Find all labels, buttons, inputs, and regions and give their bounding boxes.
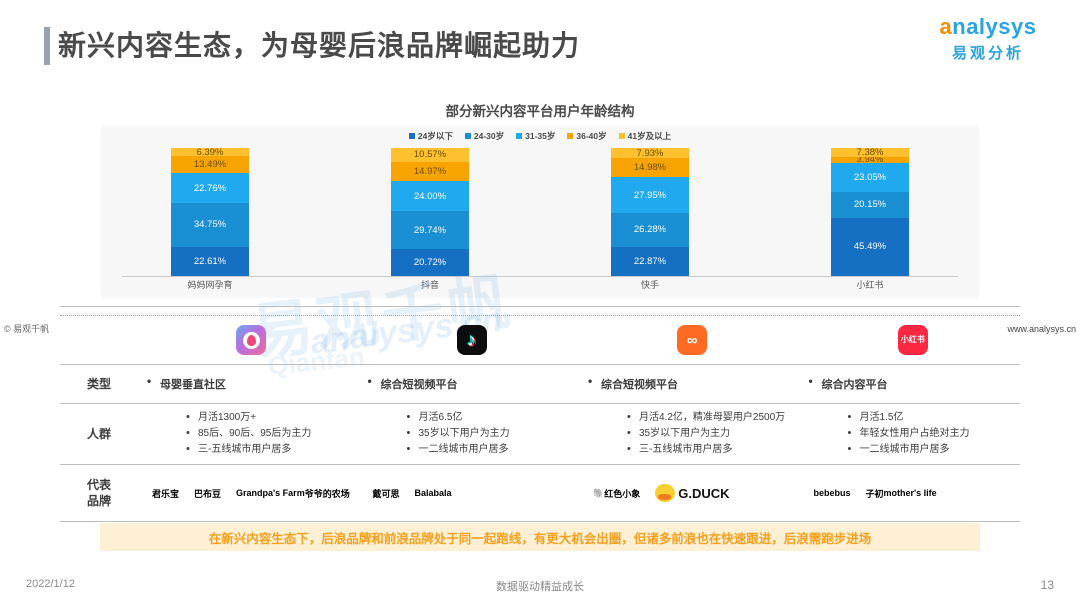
bar-segment: 10.57%	[391, 148, 469, 162]
stacked-bar[interactable]: 6.39%13.49%22.76%34.75%22.61%	[171, 148, 249, 276]
brand-logo-babudou[interactable]: 巴布豆	[190, 480, 225, 506]
brand-name-cn: 爷爷的农场	[305, 487, 350, 500]
bar-segment: 29.74%	[391, 211, 469, 249]
legend-item-3[interactable]: 36-40岁	[567, 130, 606, 142]
brand-logo-junlebao[interactable]: 君乐宝	[148, 480, 183, 506]
list-item: 85后、90后、95后为主力	[184, 426, 359, 442]
legend-item-4[interactable]: 41岁及以上	[619, 130, 671, 142]
list-item: 一二线城市用户居多	[405, 442, 580, 458]
audience-cell: 月活1.5亿年轻女性用户占绝对主力一二线城市用户居多	[800, 400, 1021, 468]
logo-chinese-name: 易观分析	[918, 42, 1058, 63]
legend-label: 31-35岁	[525, 130, 555, 142]
brand-name: G.DUCK	[678, 486, 729, 501]
bar-segment: 20.15%	[831, 192, 909, 218]
app-icon-glyph: ∞	[687, 333, 698, 348]
list-item: 月活4.2亿，精准母婴用户2500万	[625, 410, 800, 426]
bar-segment: 27.95%	[611, 177, 689, 213]
type-text: 综合短视频平台	[585, 376, 800, 392]
bar-segment: 7.93%	[611, 148, 689, 158]
list-item: 三-五线城市用户居多	[625, 442, 800, 458]
app-logo-cell: 小红书	[800, 325, 1021, 355]
list-item: 35岁以下用户为主力	[625, 426, 800, 442]
axis-label-3: 小红书	[760, 278, 980, 291]
type-text: 综合内容平台	[806, 376, 1021, 392]
analysys-logo: analysys 易观分析	[918, 16, 1058, 63]
divider-after-brands	[60, 521, 1020, 522]
bar-segment: 6.39%	[171, 148, 249, 156]
logo-word-rest: nalysys	[952, 14, 1036, 39]
brand-logo-grandpas-farm[interactable]: Grandpa's Farm爷爷的农场	[232, 480, 354, 506]
brand-logo-daikesi[interactable]: 戴可思	[369, 480, 404, 506]
duck-icon	[655, 484, 675, 502]
chart-plot-area: 6.39%13.49%22.76%34.75%22.61%10.57%14.97…	[100, 148, 980, 276]
type-cell: 综合短视频平台	[579, 376, 800, 392]
bar-segment: 13.49%	[171, 156, 249, 173]
axis-label-2: 快手	[540, 278, 760, 291]
logo-letter-a: a	[940, 14, 953, 39]
bar-group-0: 6.39%13.49%22.76%34.75%22.61%	[100, 148, 320, 276]
app-icon-glyph: 小红书	[901, 336, 925, 344]
footer-slogan: 数据驱动精益成长	[0, 578, 1080, 594]
logo-wordmark: analysys	[918, 16, 1058, 38]
bar-segment: 34.75%	[171, 203, 249, 247]
legend-item-1[interactable]: 24-30岁	[465, 130, 504, 142]
list-item: 年轻女性用户占绝对主力	[846, 426, 1021, 442]
type-cell: 母婴垂直社区	[138, 376, 359, 392]
bar-group-1: 10.57%14.97%24.00%29.74%20.72%	[320, 148, 540, 276]
audience-list: 月活1300万+85后、90后、95后为主力三-五线城市用户居多	[144, 410, 359, 458]
brand-name-en: Grandpa's Farm	[236, 488, 305, 498]
legend-swatch-icon	[516, 133, 522, 139]
douyin-app-icon[interactable]: ♪	[457, 325, 487, 355]
type-text: 综合短视频平台	[365, 376, 580, 392]
legend-item-2[interactable]: 31-35岁	[516, 130, 555, 142]
bar-segment: 7.38%	[831, 148, 909, 157]
audience-cell: 月活6.5亿35岁以下用户为主力一二线城市用户居多	[359, 400, 580, 468]
website-text: www.analysys.cn	[1007, 324, 1076, 334]
table-row-audience: 人群 月活1300万+85后、90后、95后为主力三-五线城市用户居多月活6.5…	[60, 404, 1020, 464]
chart-card: 24岁以下24-30岁31-35岁36-40岁41岁及以上 6.39%13.49…	[100, 126, 980, 298]
bar-segment: 45.49%	[831, 218, 909, 276]
brand-cell: 戴可思Balabala	[359, 480, 580, 506]
brand-name: 君乐宝	[152, 487, 179, 500]
legend-label: 36-40岁	[576, 130, 606, 142]
page-footer: 2022/1/12 数据驱动精益成长 13	[0, 572, 1080, 608]
app-icon-glyph	[243, 332, 260, 349]
brand-name-cn: 子初	[866, 487, 884, 500]
row-label-audience: 人群	[60, 426, 138, 442]
type-cell: 综合内容平台	[800, 376, 1021, 392]
brand-logo-zichu[interactable]: 子初mother's life	[862, 480, 941, 506]
table-row-app-logos: ♪∞小红书	[60, 316, 1020, 364]
chart-category-labels: 妈妈网孕育抖音快手小红书	[100, 278, 980, 291]
bar-segment: 22.87%	[611, 247, 689, 276]
type-text: 母婴垂直社区	[144, 376, 359, 392]
axis-label-1: 抖音	[320, 278, 540, 291]
xiaohongshu-app-icon[interactable]: 小红书	[898, 325, 928, 355]
app-icon-glyph: ♪	[467, 331, 476, 349]
conclusion-text: 在新兴内容生态下，后浪品牌和前浪品牌处于同一起跑线，有更大机会出圈，但诸多前浪也…	[209, 528, 872, 547]
legend-swatch-icon	[409, 133, 415, 139]
list-item: 一二线城市用户居多	[846, 442, 1021, 458]
brand-name: 戴可思	[373, 487, 400, 500]
audience-list: 月活4.2亿，精准母婴用户2500万35岁以下用户为主力三-五线城市用户居多	[585, 410, 800, 458]
type-cell: 综合短视频平台	[359, 376, 580, 392]
brand-name: Balabala	[415, 488, 452, 498]
row-label-brands: 代表 品牌	[60, 477, 138, 509]
footer-page-number: 13	[1041, 578, 1054, 592]
legend-label: 24-30岁	[474, 130, 504, 142]
audience-cell: 月活1300万+85后、90后、95后为主力三-五线城市用户居多	[138, 400, 359, 468]
brand-name-sub: mother's life	[884, 488, 937, 498]
bar-segment: 14.98%	[611, 158, 689, 177]
audience-list: 月活6.5亿35岁以下用户为主力一二线城市用户居多	[365, 410, 580, 458]
brand-name: 巴布豆	[194, 487, 221, 500]
chart-axis-line	[122, 276, 958, 277]
brand-logo-hongsexiaoxiang[interactable]: 🐘红色小象	[589, 480, 644, 506]
copyright-text: © 易观千帆	[4, 322, 49, 335]
stacked-bar[interactable]: 7.38%3.94%23.05%20.15%45.49%	[831, 148, 909, 276]
row-label-type: 类型	[60, 376, 138, 392]
brand-cell: bebebus子初mother's life	[800, 480, 1021, 506]
brand-cell: 君乐宝巴布豆Grandpa's Farm爷爷的农场	[138, 480, 359, 506]
kuaishou-app-icon[interactable]: ∞	[677, 325, 707, 355]
row-label-brands-line2: 品牌	[60, 493, 138, 509]
legend-label: 24岁以下	[418, 130, 453, 142]
legend-item-0[interactable]: 24岁以下	[409, 130, 453, 142]
platform-comparison-table: ♪∞小红书 类型 母婴垂直社区综合短视频平台综合短视频平台综合内容平台 人群 月…	[60, 306, 1020, 522]
list-item: 35岁以下用户为主力	[405, 426, 580, 442]
page-title: 新兴内容生态，为母婴后浪品牌崛起助力	[58, 24, 580, 64]
list-item: 月活6.5亿	[405, 410, 580, 426]
bar-segment: 14.97%	[391, 162, 469, 181]
legend-swatch-icon	[619, 133, 625, 139]
bar-segment: 26.28%	[611, 213, 689, 247]
legend-swatch-icon	[465, 133, 471, 139]
app-logo-cell: ♪	[359, 325, 580, 355]
legend-label: 41岁及以上	[628, 130, 671, 142]
table-top-divider	[60, 306, 1020, 307]
app-logo-cell	[138, 325, 359, 355]
bar-group-3: 7.38%3.94%23.05%20.15%45.49%	[760, 148, 980, 276]
legend-swatch-icon	[567, 133, 573, 139]
app-logo-cell: ∞	[579, 325, 800, 355]
audience-cell: 月活4.2亿，精准母婴用户2500万35岁以下用户为主力三-五线城市用户居多	[579, 400, 800, 468]
list-item: 三-五线城市用户居多	[184, 442, 359, 458]
audience-list: 月活1.5亿年轻女性用户占绝对主力一二线城市用户居多	[806, 410, 1021, 458]
chart-legend: 24岁以下24-30岁31-35岁36-40岁41岁及以上	[100, 130, 980, 142]
bar-segment: 24.00%	[391, 181, 469, 212]
title-accent-bar	[44, 27, 50, 65]
brand-logo-gduck[interactable]: G.DUCK	[651, 480, 733, 506]
bar-segment: 23.05%	[831, 163, 909, 193]
row-label-brands-line1: 代表	[60, 477, 138, 493]
elephant-icon: 🐘	[593, 488, 604, 499]
table-row-brands: 代表 品牌 君乐宝巴布豆Grandpa's Farm爷爷的农场戴可思Balaba…	[60, 465, 1020, 521]
brand-cell: 🐘红色小象G.DUCK	[579, 480, 800, 506]
table-row-type: 类型 母婴垂直社区综合短视频平台综合短视频平台综合内容平台	[60, 365, 1020, 403]
mamawang-app-icon[interactable]	[236, 325, 266, 355]
bar-group-2: 7.93%14.98%27.95%26.28%22.87%	[540, 148, 760, 276]
brand-name: bebebus	[814, 488, 851, 498]
list-item: 月活1.5亿	[846, 410, 1021, 426]
brand-logo-bebebus[interactable]: bebebus	[810, 480, 855, 506]
chart-title: 部分新兴内容平台用户年龄结构	[0, 100, 1080, 120]
bar-segment: 22.76%	[171, 173, 249, 202]
bar-segment: 22.61%	[171, 247, 249, 276]
stacked-bar[interactable]: 7.93%14.98%27.95%26.28%22.87%	[611, 148, 689, 276]
axis-label-0: 妈妈网孕育	[100, 278, 320, 291]
page-header: 新兴内容生态，为母婴后浪品牌崛起助力 analysys 易观分析	[0, 0, 1080, 88]
conclusion-banner: 在新兴内容生态下，后浪品牌和前浪品牌处于同一起跑线，有更大机会出圈，但诸多前浪也…	[100, 523, 980, 551]
list-item: 月活1300万+	[184, 410, 359, 426]
brand-name: 红色小象	[604, 487, 640, 500]
brand-logo-balabala[interactable]: Balabala	[411, 480, 456, 506]
bar-segment: 20.72%	[391, 249, 469, 276]
stacked-bar[interactable]: 10.57%14.97%24.00%29.74%20.72%	[391, 148, 469, 276]
